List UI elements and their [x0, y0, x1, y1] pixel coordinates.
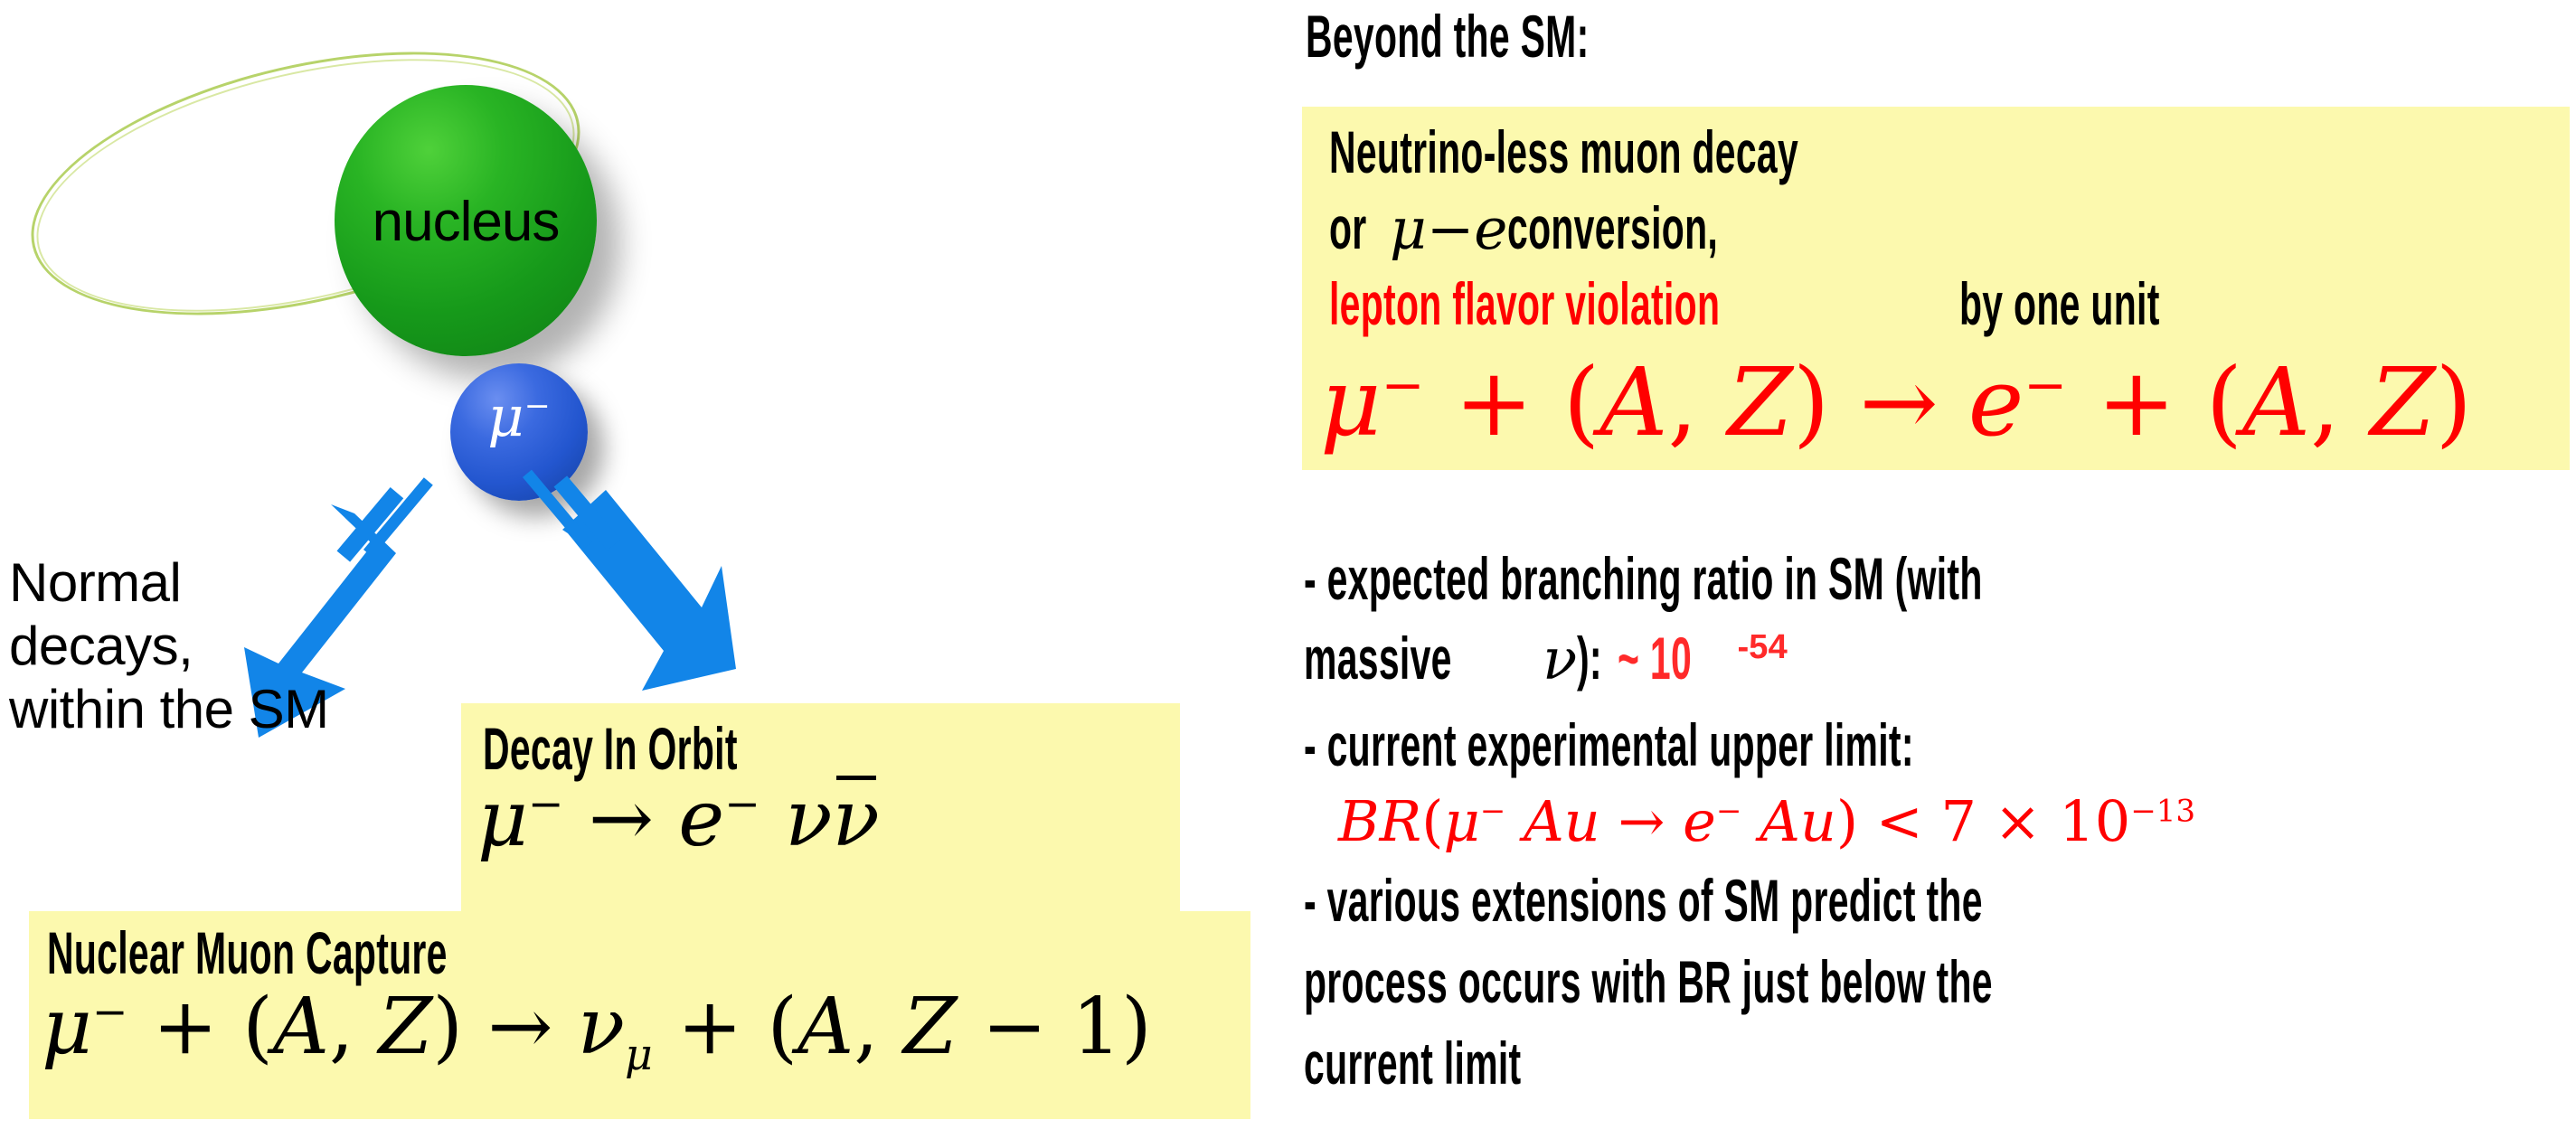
lfv-A-2: A	[2242, 347, 2310, 457]
nuclear-muon-capture-formula: μ− + (A, Z) → νμ + (A, Z − 1)	[42, 982, 1152, 1080]
nmc-comma-1: ,	[329, 982, 354, 1072]
bsm-line-2-math: μ−e	[1390, 196, 1507, 262]
decay-in-orbit-title: Decay In Orbit	[483, 714, 893, 783]
lfv-Z-1: Z	[1728, 347, 1793, 457]
lfv-paren-close-1: )	[1793, 347, 1830, 457]
nmc-Z-1: Z	[379, 982, 433, 1072]
nmc-paren-open-2: (	[768, 982, 798, 1072]
muon-charge: −	[524, 388, 551, 424]
dio-nu: ν	[785, 774, 832, 864]
lfv-A-1: A	[1599, 347, 1667, 457]
lfv-arrow: →	[1860, 347, 1939, 457]
muon-label: μ−	[450, 383, 588, 449]
dio-e: e	[678, 774, 724, 864]
lfv-mu: μ	[1320, 347, 1382, 457]
bullet-3-line-3-text: current limit	[1304, 1029, 1522, 1097]
dio-arrow: →	[589, 774, 654, 864]
caption-line-1: Normal	[9, 551, 425, 615]
lfv-paren-close-2: )	[2436, 347, 2473, 457]
muon-symbol: μ	[487, 383, 524, 449]
lfv-e: e	[1968, 347, 2024, 457]
nmc-arrow: →	[487, 982, 552, 1072]
bsm-line-2-post: conversion,	[1507, 193, 1718, 262]
normal-decays-caption: Normal decays, within the SM	[9, 551, 425, 741]
nmc-minus-one: − 1	[982, 982, 1121, 1072]
br-e: e	[1683, 788, 1716, 854]
nuclear-muon-capture-title-text: Nuclear Muon Capture	[47, 918, 448, 987]
br-mu: μ	[1443, 788, 1479, 854]
nmc-Z-2: Z	[903, 982, 958, 1072]
lfv-comma-1: ,	[1667, 347, 1697, 457]
nucleus-label: nucleus	[335, 190, 597, 254]
br-au-2: Au	[1760, 788, 1836, 854]
bullet-1-exponent: -54	[1737, 627, 1787, 667]
bsm-line-3-red: lepton flavor violation	[1329, 269, 1720, 338]
bullet-3-line-2: process occurs with BR just below the	[1304, 947, 2415, 1016]
nmc-A-1: A	[273, 982, 329, 1072]
dio-e-charge: −	[724, 779, 760, 829]
bullet-1-value: ~ 10	[1618, 624, 1692, 692]
br-times: ×	[1995, 788, 2042, 854]
dio-nubar: ν	[832, 774, 879, 864]
br-arrow: →	[1618, 788, 1665, 854]
br-less-than: <	[1876, 788, 1923, 854]
nmc-paren-close-2: )	[1121, 982, 1152, 1072]
bullet-1-line-1-text: - expected branching ratio in SM (with	[1304, 544, 1983, 613]
lfv-e-charge: −	[2024, 355, 2067, 415]
nmc-paren-close-1: )	[432, 982, 463, 1072]
br-paren-open: (	[1421, 788, 1443, 854]
nuclear-muon-capture-title: Nuclear Muon Capture	[47, 918, 693, 987]
lfv-comma-2: ,	[2310, 347, 2340, 457]
nmc-plus-1: +	[153, 982, 218, 1072]
bullet-1-line-2-mid: ):	[1577, 624, 1602, 692]
lfv-mu-charge: −	[1382, 355, 1425, 415]
dio-mu-charge: −	[528, 779, 564, 829]
bullet-2-text: - current experimental upper limit:	[1304, 710, 1914, 779]
bullet-1-nu-symbol: ν	[1543, 626, 1577, 692]
nmc-mu-charge: −	[92, 987, 128, 1037]
br-limit-equation: BR(μ− Au → e− Au) < 7 × 10−13	[1338, 788, 2195, 854]
br-seven: 7	[1940, 788, 1976, 854]
decay-in-orbit-title-text: Decay In Orbit	[483, 714, 738, 783]
lfv-paren-open-1: (	[1563, 347, 1600, 457]
bsm-line-1-text: Neutrino-less muon decay	[1329, 118, 1798, 186]
bullet-3-line-2-text: process occurs with BR just below the	[1304, 947, 1993, 1016]
bullet-2: - current experimental upper limit:	[1304, 710, 2288, 779]
beyond-sm-heading-text: Beyond the SM:	[1306, 2, 1590, 71]
lfv-Z-2: Z	[2370, 347, 2435, 457]
bullet-3-line-1: - various extensions of SM predict the	[1304, 866, 2399, 935]
bullet-1-line-2: massive ν): ~ 10-54	[1304, 624, 1788, 692]
bsm-line-3-black: by one unit	[1959, 269, 2160, 338]
br-ten: 10	[2059, 788, 2130, 854]
lfv-paren-open-2: (	[2205, 347, 2242, 457]
bsm-line-2-pre: or	[1329, 193, 1367, 262]
bullet-3-line-1-text: - various extensions of SM predict the	[1304, 866, 1983, 935]
lfv-plus-2: +	[2097, 347, 2175, 457]
nmc-plus-2: +	[677, 982, 742, 1072]
nmc-nu: ν	[578, 982, 625, 1072]
bullet-1-line-2-pre: massive	[1304, 624, 1452, 692]
bullet-1-line-1: - expected branching ratio in SM (with	[1304, 544, 2399, 613]
nmc-A-2: A	[797, 982, 854, 1072]
beyond-sm-heading: Beyond the SM:	[1306, 2, 1763, 71]
lfv-equation: μ− + (A, Z) → e− + (A, Z)	[1320, 347, 2472, 457]
br-e-charge: −	[1716, 793, 1742, 829]
dio-mu: μ	[477, 774, 528, 864]
lfv-plus-1: +	[1455, 347, 1533, 457]
nmc-paren-open-1: (	[242, 982, 273, 1072]
nmc-comma-2: ,	[854, 982, 878, 1072]
caption-line-2: decays,	[9, 615, 425, 678]
br-mu-charge: −	[1480, 793, 1506, 829]
bsm-line-3: lepton flavor violation by one unit	[1329, 269, 2283, 338]
bsm-line-1: Neutrino-less muon decay	[1329, 118, 2086, 186]
br-exponent: −13	[2130, 793, 2195, 829]
nmc-mu: μ	[42, 982, 92, 1072]
nmc-nu-sub: μ	[625, 1030, 653, 1080]
caption-line-3: within the SM	[9, 678, 425, 741]
decay-in-orbit-formula: μ− → e− νν	[477, 774, 880, 864]
br-au-1: Au	[1524, 788, 1600, 854]
muon-nucleus-diagram: nucleus μ− Normal decays, within the SM	[0, 0, 1266, 1148]
bsm-line-2: or μ−e conversion,	[1329, 193, 1847, 262]
bullet-3-line-3: current limit	[1304, 1029, 1655, 1097]
br-symbol: BR	[1338, 788, 1421, 854]
beyond-sm-column: Beyond the SM: Neutrino-less muon decay …	[1284, 0, 2576, 1148]
br-paren-close: )	[1836, 788, 1858, 854]
